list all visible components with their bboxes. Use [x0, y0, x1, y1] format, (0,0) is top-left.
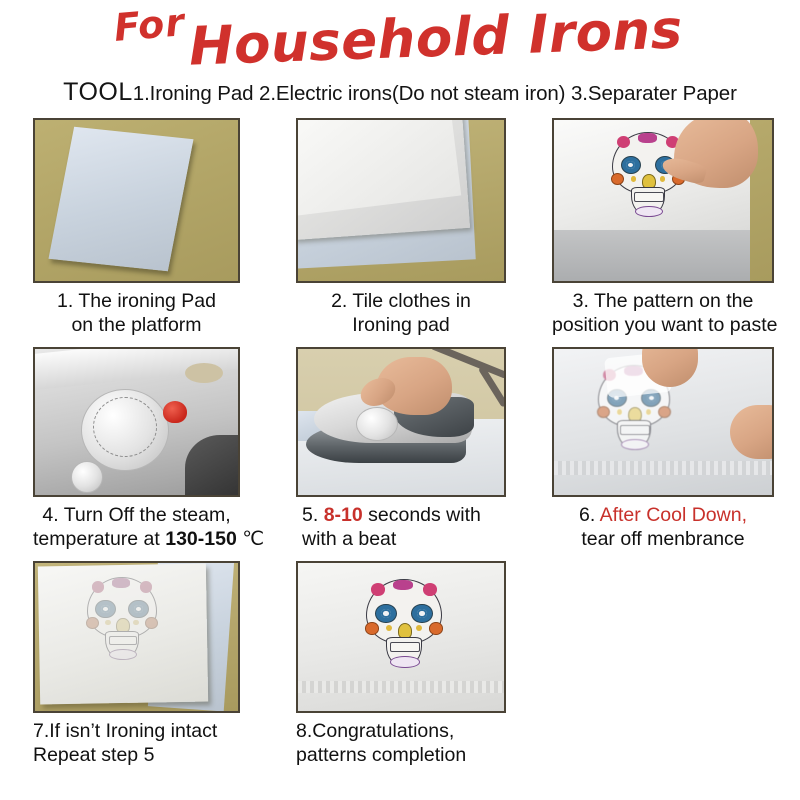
skull-flower-right — [140, 581, 153, 592]
page-title-prefix: For — [112, 0, 186, 50]
step-7-photo — [33, 561, 240, 713]
step-1-photo — [33, 118, 240, 283]
skull-flower-left — [617, 136, 630, 148]
step-cell-6: 6. After Cool Down, tear off menbrance — [544, 347, 800, 551]
step-4-temp-unit: ℃ — [237, 528, 264, 550]
step-4-photo — [33, 347, 240, 497]
skull-flower-center — [393, 580, 413, 591]
small-cap — [71, 461, 103, 493]
steps-row-1: 1. The ironing Pad on the platform 2. Ti… — [0, 118, 800, 337]
step-4-temp-prefix: temperature at — [33, 528, 165, 550]
skull-pattern-final — [366, 579, 442, 667]
skull-cheek-left — [365, 622, 378, 635]
step-5-caption-line1: 5. 8-10 seconds with — [302, 503, 512, 527]
ironing-pad — [48, 127, 193, 272]
step-cell-empty — [544, 561, 800, 767]
skull-chin-swirl — [390, 656, 419, 668]
skull-eye-left — [95, 600, 115, 618]
step-5-caption-line2: with a beat — [302, 527, 512, 551]
steam-button — [163, 401, 187, 423]
skull-chin-swirl — [621, 439, 649, 450]
step-cell-7: 7.If isn’t Ironing intact Repeat step 5 — [0, 561, 281, 767]
skull-teeth — [109, 636, 138, 645]
step-3-caption-line1: 3. The pattern on the — [552, 289, 774, 313]
step-5-duration: 8-10 — [324, 504, 363, 526]
skull-dot-right — [646, 409, 652, 415]
step-3-caption-line2: position you want to paste — [552, 313, 774, 337]
iron-dial — [356, 407, 398, 441]
skull-flower-left — [371, 583, 385, 595]
iron-beige-detail — [185, 363, 223, 383]
step-6-photo — [552, 347, 774, 497]
step-5-num: 5. — [302, 504, 324, 526]
page-title-main: Household Irons — [188, 0, 684, 78]
step-2-photo — [296, 118, 506, 283]
step-8-photo — [296, 561, 506, 713]
skull-flower-right — [423, 583, 437, 595]
skull-cheek-right — [658, 406, 671, 418]
tool-label: TOOL — [63, 78, 133, 106]
tool-list-line: TOOL1.Ironing Pad 2.Electric irons(Do no… — [0, 78, 800, 107]
step-cell-2: 2. Tile clothes in Ironing pad — [281, 118, 544, 337]
skull-cheek-right — [145, 617, 158, 629]
skull-chin-swirl — [635, 206, 663, 217]
step-4-caption: 4. Turn Off the steam, temperature at 13… — [33, 503, 240, 551]
step-7-caption-line1: 7.If isn’t Ironing intact — [33, 719, 263, 743]
skull-dot-left — [631, 176, 637, 182]
skull-flower-center — [112, 578, 130, 588]
skull-dot-left — [105, 620, 111, 626]
step-1-caption-line1: 1. The ironing Pad — [33, 289, 240, 313]
step-5-caption: 5. 8-10 seconds with with a beat — [296, 503, 512, 551]
step-3-caption: 3. The pattern on the position you want … — [552, 289, 774, 337]
step-cell-1: 1. The ironing Pad on the platform — [0, 118, 281, 337]
dial-markings — [93, 397, 157, 457]
step-4-caption-line1: 4. Turn Off the steam, — [33, 503, 240, 527]
step-cell-4: 4. Turn Off the steam, temperature at 13… — [0, 347, 281, 551]
step-2-caption: 2. Tile clothes in Ironing pad — [296, 289, 506, 337]
skull-teeth — [390, 642, 421, 652]
step-2-caption-line2: Ironing pad — [296, 313, 506, 337]
step-4-temp-value: 130-150 — [165, 528, 237, 550]
step-cell-5: 5. 8-10 seconds with with a beat — [281, 347, 544, 551]
skull-teeth — [620, 425, 649, 435]
step-4-caption-line2: temperature at 130-150 ℃ — [33, 527, 240, 551]
cloth-hem — [298, 681, 506, 693]
step-5-line1-post: seconds with — [363, 504, 481, 526]
skull-dot-left — [617, 409, 623, 415]
tool-items: 1.Ironing Pad 2.Electric irons(Do not st… — [133, 82, 737, 105]
step-8-caption: 8.Congratulations, patterns completion — [296, 719, 526, 767]
skull-cheek-right — [429, 622, 442, 635]
skull-pattern-faint — [87, 577, 157, 659]
step-6-caption: 6. After Cool Down, tear off menbrance — [552, 503, 774, 551]
skull-dot-right — [660, 176, 666, 182]
steps-grid: 1. The ironing Pad on the platform 2. Ti… — [0, 118, 800, 767]
step-cell-8: 8.Congratulations, patterns completion — [281, 561, 544, 767]
step-6-num: 6. — [579, 504, 600, 526]
skull-teeth — [634, 192, 663, 202]
step-8-caption-line1: 8.Congratulations, — [296, 719, 526, 743]
step-2-caption-line1: 2. Tile clothes in — [296, 289, 506, 313]
step-3-photo — [552, 118, 774, 283]
step-8-caption-line2: patterns completion — [296, 743, 526, 767]
step-7-caption: 7.If isn’t Ironing intact Repeat step 5 — [33, 719, 263, 767]
header: ForHousehold Irons TOOL1.Ironing Pad 2.E… — [0, 0, 800, 118]
step-6-caption-line1: 6. After Cool Down, — [552, 503, 774, 527]
steps-row-3: 7.If isn’t Ironing intact Repeat step 5 — [0, 561, 800, 767]
step-cell-3: 3. The pattern on the position you want … — [544, 118, 800, 337]
skull-eye-right — [128, 600, 148, 618]
skull-flower-center — [638, 133, 657, 143]
step-1-caption-line2: on the platform — [33, 313, 240, 337]
steps-row-2: 4. Turn Off the steam, temperature at 13… — [0, 347, 800, 551]
page-title: ForHousehold Irons — [0, 0, 800, 76]
skull-eye-right — [411, 604, 433, 624]
skull-dot-left — [386, 625, 392, 631]
skull-chin-swirl — [109, 649, 136, 660]
skull-flower-left — [92, 581, 105, 592]
step-5-photo — [296, 347, 506, 497]
step-1-caption: 1. The ironing Pad on the platform — [33, 289, 240, 337]
skull-dot-right — [133, 620, 139, 626]
step-6-caption-line2: tear off menbrance — [552, 527, 774, 551]
step-6-cool-down: After Cool Down, — [600, 504, 747, 526]
step-7-caption-line2: Repeat step 5 — [33, 743, 263, 767]
cloth-hem — [554, 461, 774, 475]
skull-eye-left — [375, 604, 397, 624]
skull-cheek-left — [86, 617, 99, 629]
